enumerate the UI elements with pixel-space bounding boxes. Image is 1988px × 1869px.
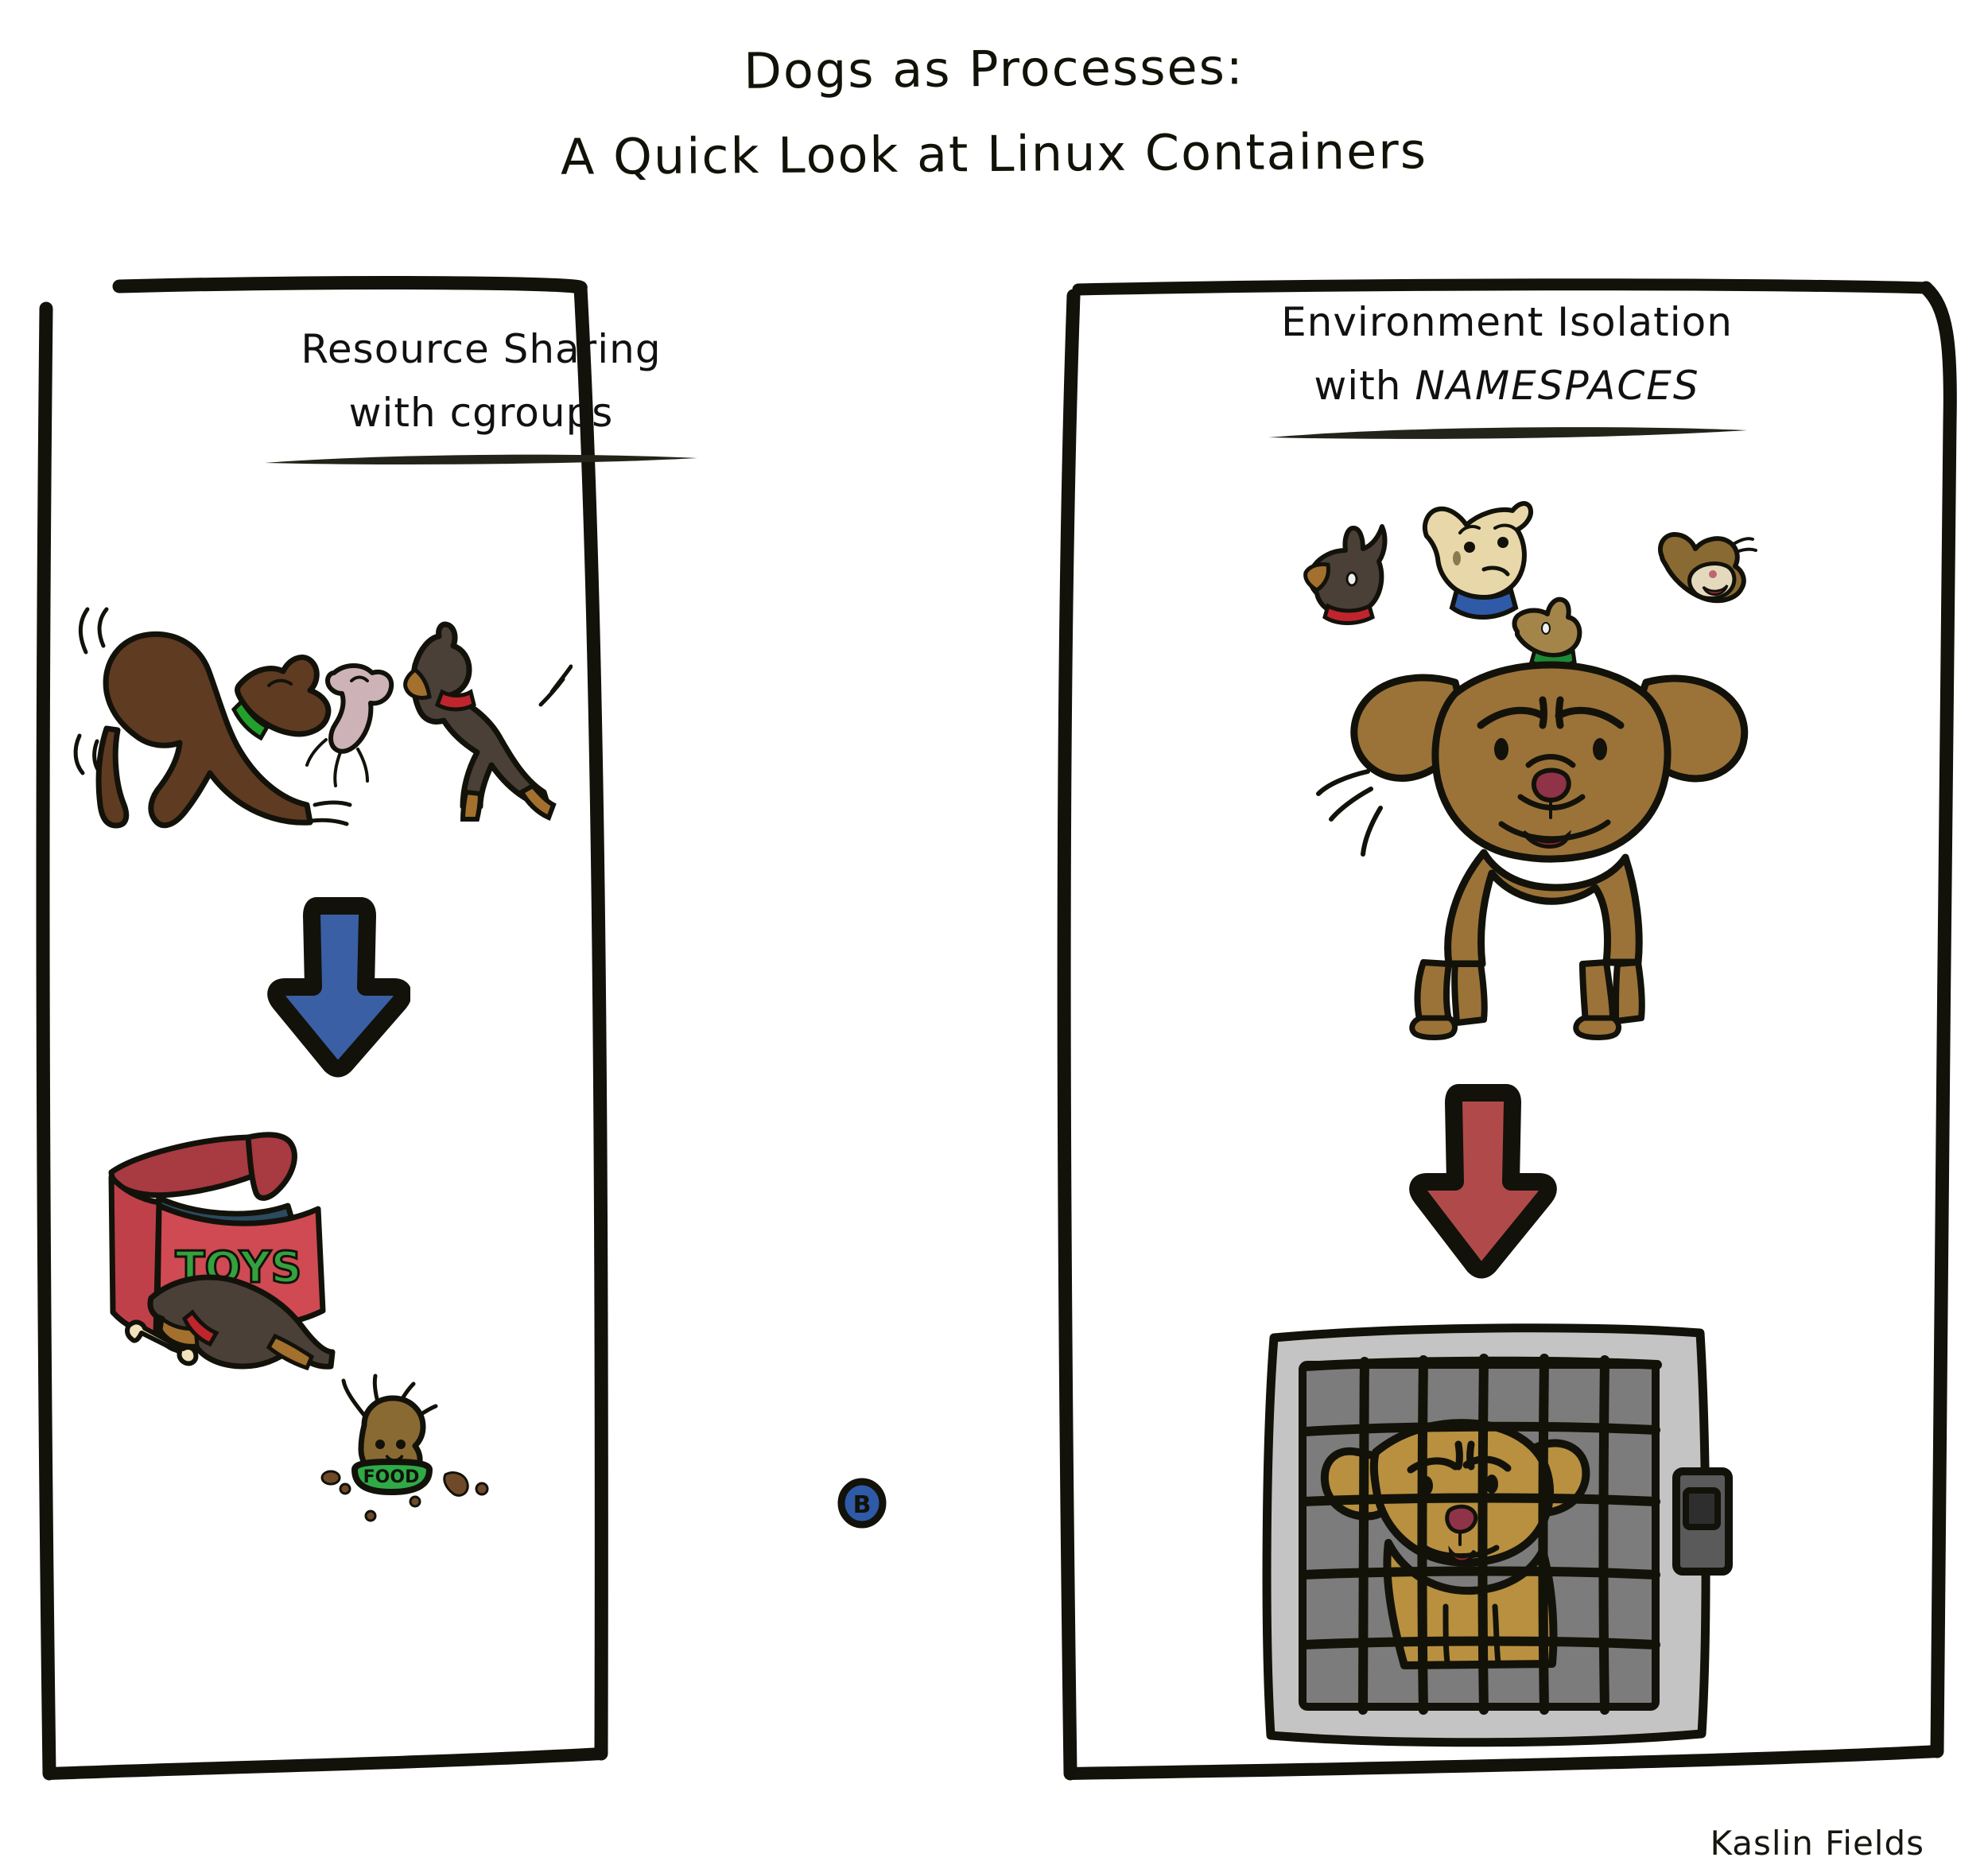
- doberman-head: [1306, 527, 1385, 624]
- angry-dog: [1312, 660, 1789, 1058]
- panel-left-heading: Resource Sharing with cgroups: [32, 326, 930, 468]
- heading-emphasis: NAMESPACES: [1415, 363, 1699, 409]
- blue-ball-label: B: [853, 1491, 872, 1519]
- title-line-1: Dogs as Processes:: [0, 31, 1988, 107]
- cream-dog-head: [1425, 503, 1531, 617]
- food-bowl-label: FOOD: [363, 1467, 420, 1487]
- panel-right-heading-line2: with NAMESPACES: [1058, 363, 1956, 409]
- crate-latch: [1676, 1471, 1729, 1572]
- small-tan-dog-head: [1515, 600, 1580, 668]
- heading-underline-left: [258, 450, 704, 468]
- arrow-down-red: [1408, 1082, 1559, 1280]
- heading-prefix: with: [1314, 363, 1415, 409]
- arrow-down-blue: [267, 895, 410, 1078]
- scene-shared-resources: TOYS: [80, 1113, 899, 1583]
- heading-underline-right: [1260, 423, 1753, 441]
- crate: [1256, 1312, 1749, 1758]
- blue-ball: B: [841, 1482, 883, 1525]
- comic-title: Dogs as Processes: A Quick Look at Linux…: [0, 40, 1988, 183]
- panel-left-heading-line2: with cgroups: [32, 390, 930, 436]
- scene-tug-of-war: [72, 596, 573, 859]
- panel-right-heading-line1: Environment Isolation: [1058, 299, 1956, 345]
- food-bowl-dog: FOOD: [322, 1376, 487, 1521]
- terrier-head: [1660, 534, 1756, 600]
- panel-environment-isolation: Environment Isolation with NAMESPACES: [1058, 278, 1956, 1782]
- scene-dog-heads: [1296, 501, 1805, 676]
- panel-left-heading-line1: Resource Sharing: [32, 326, 930, 372]
- panel-resource-sharing: Resource Sharing with cgroups: [32, 278, 930, 1782]
- comic-canvas: Dogs as Processes: A Quick Look at Linux…: [0, 0, 1988, 1869]
- panel-right-heading: Environment Isolation with NAMESPACES: [1058, 299, 1956, 441]
- title-line-2: A Quick Look at Linux Containers: [0, 118, 1988, 189]
- artist-credit: Kaslin Fields: [1710, 1824, 1924, 1863]
